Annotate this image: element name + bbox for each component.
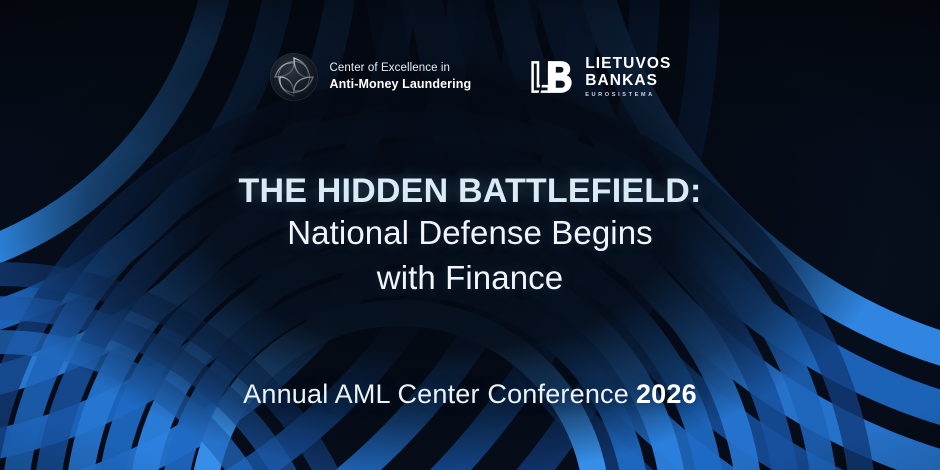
headline-line-2: National Defense Begins — [0, 211, 940, 256]
tagline-block: Annual AML Center Conference2026 — [0, 379, 940, 410]
headline-line-1: THE HIDDEN BATTLEFIELD: — [0, 172, 940, 211]
center-of-excellence-emblem-icon — [269, 52, 319, 102]
logo-center-of-excellence: Center of Excellence in Anti-Money Laund… — [269, 52, 472, 102]
logo-lietuvos-bankas: LIETUVOS BANKAS EUROSISTEMA — [529, 56, 671, 98]
lb-monogram-icon — [529, 59, 574, 95]
logo-bar: Center of Excellence in Anti-Money Laund… — [0, 52, 940, 102]
headline-block: THE HIDDEN BATTLEFIELD: National Defense… — [0, 172, 940, 301]
lb-line-1: LIETUVOS — [585, 56, 671, 73]
conference-banner: Center of Excellence in Anti-Money Laund… — [0, 0, 940, 470]
lb-line-3: EUROSISTEMA — [585, 92, 671, 98]
coe-line-1: Center of Excellence in — [330, 61, 472, 76]
lietuvos-bankas-wordmark: LIETUVOS BANKAS EUROSISTEMA — [585, 56, 671, 98]
center-of-excellence-wordmark: Center of Excellence in Anti-Money Laund… — [330, 61, 472, 93]
headline-line-3: with Finance — [0, 256, 940, 301]
lb-line-2: BANKAS — [585, 73, 671, 90]
tagline-year: 2026 — [636, 379, 697, 409]
tagline-text: Annual AML Center Conference — [243, 379, 629, 409]
coe-line-2: Anti-Money Laundering — [330, 76, 472, 93]
